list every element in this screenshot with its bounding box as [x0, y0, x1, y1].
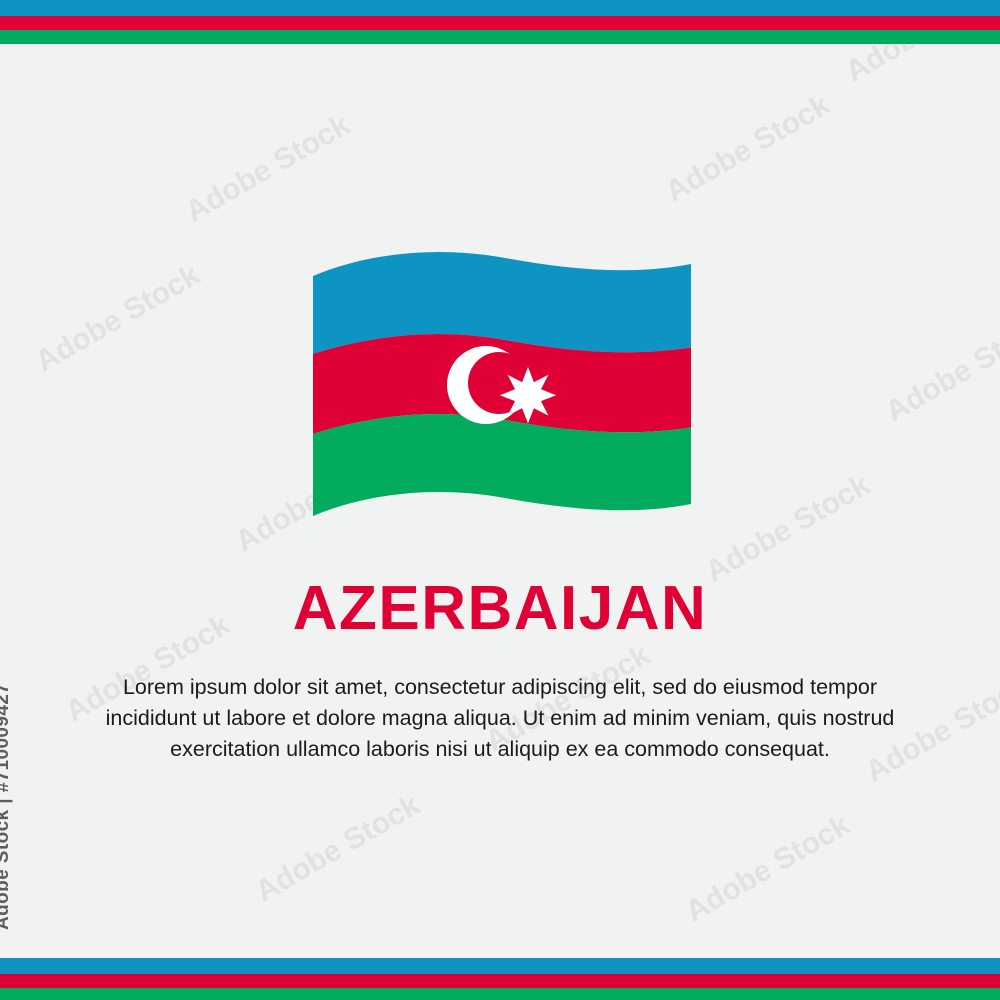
- page-title: AZERBAIJAN: [0, 578, 1000, 640]
- azerbaijan-flag: [300, 250, 700, 540]
- bottom-bar-stripe-red: [0, 974, 1000, 988]
- watermark-tile: Adobe Stock: [680, 808, 856, 929]
- top-bar-stripe-red: [0, 16, 1000, 30]
- top-bar-stripe-blue: [0, 0, 1000, 16]
- watermark-tile: Adobe Stock: [700, 468, 876, 589]
- bottom-bar-stripe-green: [0, 988, 1000, 1000]
- top-tricolor-bar: [0, 0, 1000, 44]
- watermark-tile: Adobe Stock: [180, 108, 356, 229]
- flag-svg: [300, 250, 700, 540]
- stock-credit-watermark: Adobe Stock | #710009427: [0, 683, 14, 930]
- watermark-tile: Adobe Stock: [660, 88, 836, 209]
- bottom-tricolor-bar: [0, 958, 1000, 1000]
- top-bar-stripe-green: [0, 30, 1000, 44]
- watermark-tile: Adobe Stock: [880, 308, 1000, 429]
- body-paragraph: Lorem ipsum dolor sit amet, consectetur …: [80, 672, 920, 765]
- bottom-bar-stripe-blue: [0, 958, 1000, 974]
- eight-pointed-star-icon: [500, 367, 556, 423]
- flag-bands: [300, 250, 700, 540]
- watermark-tile: Adobe Stock: [30, 258, 206, 379]
- flag-band-green: [300, 414, 700, 540]
- poster-canvas: Adobe Stock Adobe Stock Adobe Stock Adob…: [0, 0, 1000, 1000]
- watermark-tile: Adobe Stock: [250, 788, 426, 909]
